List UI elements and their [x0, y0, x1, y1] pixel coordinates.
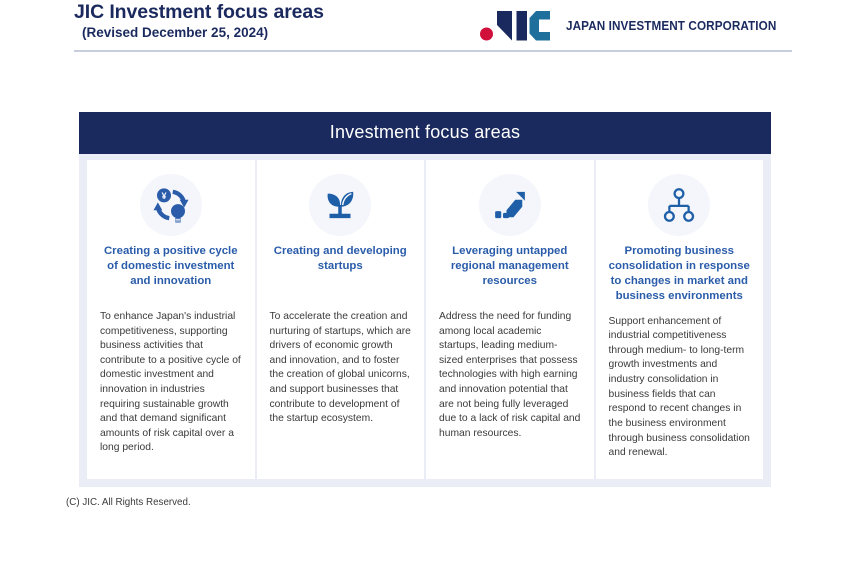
- org-tree-hierarchy-icon: [648, 174, 710, 236]
- card-title: Creating and developing startups: [268, 244, 414, 300]
- card-body: To accelerate the creation and nurturing…: [268, 310, 414, 427]
- seedling-sprout-icon: [309, 174, 371, 236]
- jic-logo-mark: [479, 11, 557, 41]
- investment-focus-panel: Investment focus areas ¥: [79, 112, 771, 487]
- focus-card-business-consolidation[interactable]: Promoting business consolidation in resp…: [594, 160, 764, 479]
- card-body: To enhance Japan's industrial competitiv…: [98, 310, 244, 456]
- card-icon-wrap: [607, 172, 753, 238]
- header-divider: [74, 50, 792, 52]
- panel-banner-title: Investment focus areas: [79, 112, 771, 154]
- logo-i-shape: [516, 11, 527, 41]
- yen-lightbulb-cycle-icon: ¥: [140, 174, 202, 236]
- logo-red-dot: [480, 28, 493, 41]
- logo-c-shape: [529, 11, 550, 41]
- card-icon-wrap: ¥: [98, 172, 244, 238]
- focus-card-domestic-investment-cycle[interactable]: ¥ Creating a positive cycle of domestic …: [87, 160, 255, 479]
- jic-logo-wordmark: JAPAN INVESTMENT CORPORATION: [566, 19, 776, 33]
- growth-arrow-chart-icon: [479, 174, 541, 236]
- card-title: Creating a positive cycle of domestic in…: [98, 244, 244, 300]
- focus-area-cards: ¥ Creating a positive cycle of domestic …: [79, 154, 771, 487]
- card-title: Leveraging untapped regional management …: [437, 244, 583, 300]
- focus-card-regional-resources[interactable]: Leveraging untapped regional management …: [424, 160, 594, 479]
- card-body: Address the need for funding among local…: [437, 310, 583, 441]
- page-title: JIC Investment focus areas: [74, 2, 324, 23]
- jic-logo: JAPAN INVESTMENT CORPORATION: [479, 9, 792, 43]
- copyright-footer: (C) JIC. All Rights Reserved.: [66, 497, 191, 508]
- svg-text:¥: ¥: [161, 191, 166, 201]
- focus-card-startups[interactable]: Creating and developing startups To acce…: [255, 160, 425, 479]
- card-title: Promoting business consolidation in resp…: [607, 244, 753, 305]
- card-icon-wrap: [437, 172, 583, 238]
- card-body: Support enhancement of industrial compet…: [607, 315, 753, 461]
- header-title-block: JIC Investment focus areas (Revised Dece…: [74, 2, 324, 40]
- card-icon-wrap: [268, 172, 414, 238]
- page-header: JIC Investment focus areas (Revised Dece…: [0, 0, 850, 52]
- page-subtitle: (Revised December 25, 2024): [82, 25, 324, 40]
